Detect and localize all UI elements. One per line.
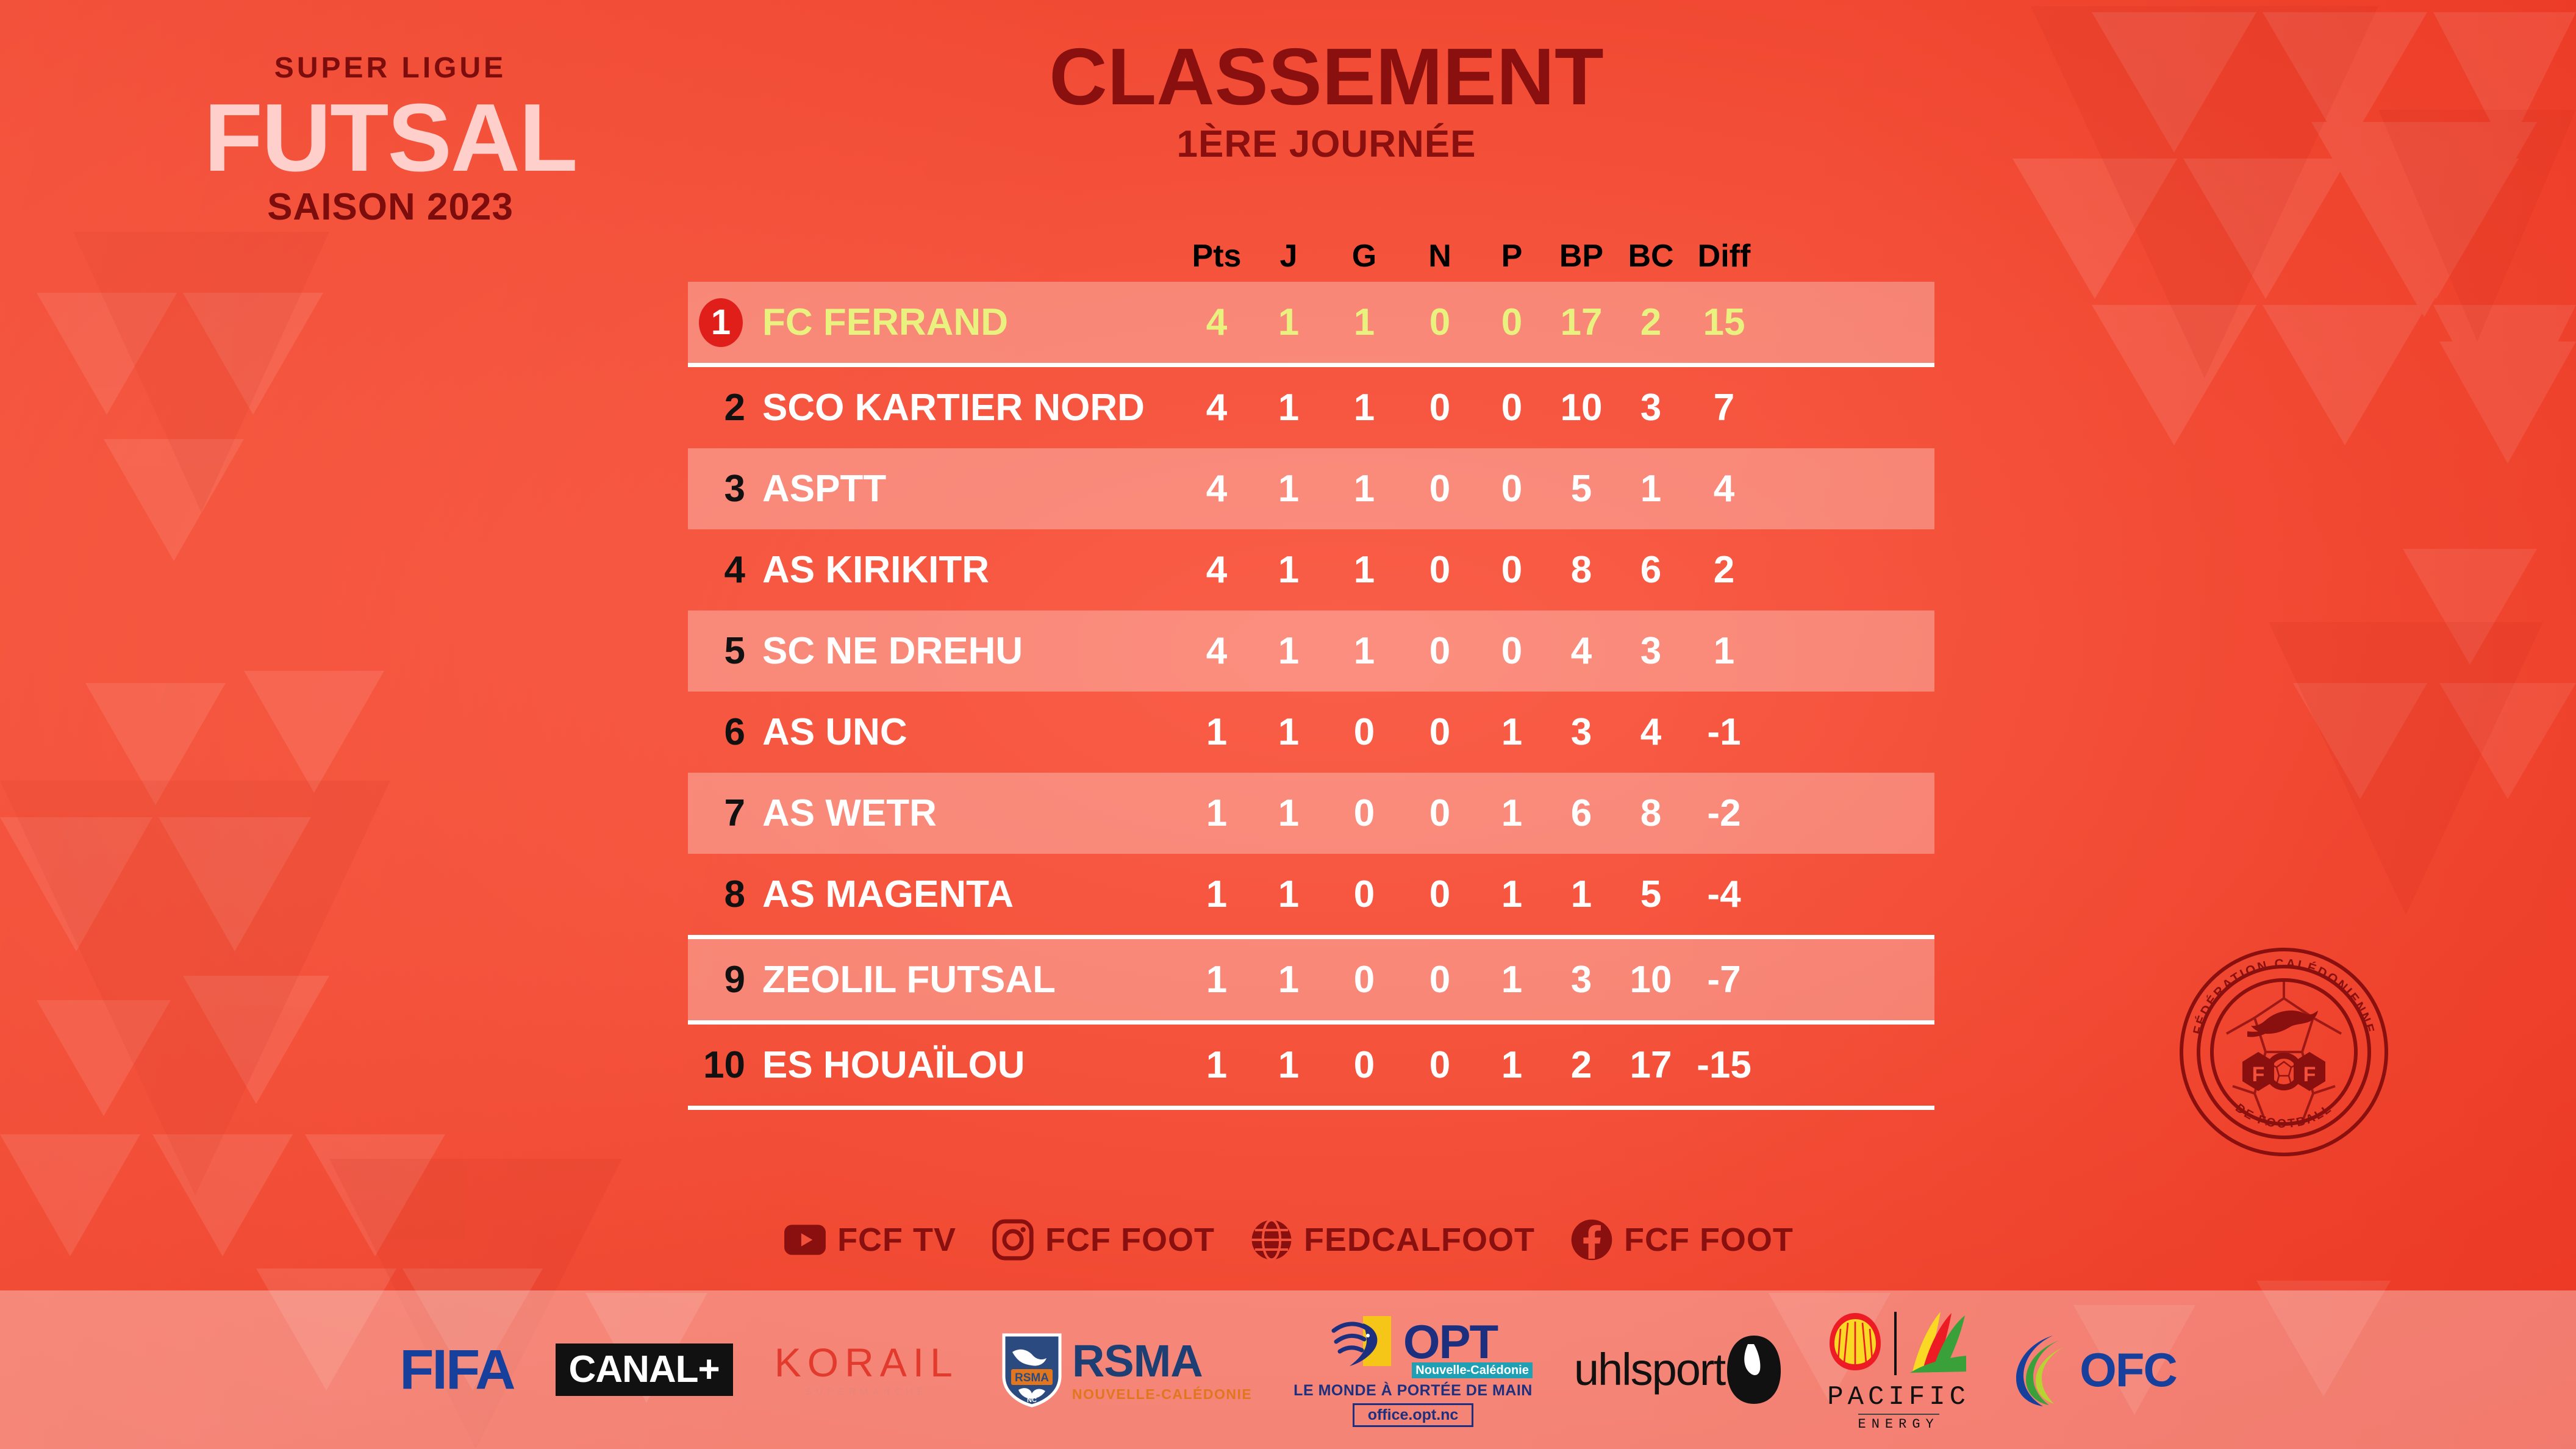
page-subtitle: 1ÈRE JOURNÉE xyxy=(720,126,1933,163)
row-rank: 8 xyxy=(688,876,754,914)
opt-website: office.opt.nc xyxy=(1353,1403,1474,1427)
sponsor-fifa: FIFA xyxy=(399,1342,513,1398)
row-rank: 2 xyxy=(688,389,754,427)
row-j: 1 xyxy=(1253,714,1325,751)
row-team-name: SC NE DREHU xyxy=(754,632,1181,670)
row-j: 1 xyxy=(1253,795,1325,832)
row-g: 0 xyxy=(1325,1046,1404,1084)
social-link-facebook[interactable]: FCF FOOT xyxy=(1569,1217,1794,1262)
svg-text:F: F xyxy=(2303,1063,2316,1086)
row-p: 1 xyxy=(1476,876,1548,914)
row-team-name: ES HOUAÏLOU xyxy=(754,1046,1181,1084)
uhlsport-mark-icon xyxy=(1725,1333,1783,1406)
col-header-diff: Diff xyxy=(1687,238,1761,274)
social-label-facebook: FCF FOOT xyxy=(1624,1223,1794,1256)
row-rank: 5 xyxy=(688,632,754,670)
row-j: 1 xyxy=(1253,470,1325,508)
row-bc: 3 xyxy=(1615,389,1687,427)
pacific-logo-text: PACIFIC xyxy=(1827,1384,1970,1411)
opt-logo-text: OPT xyxy=(1403,1318,1497,1365)
col-header-g: G xyxy=(1325,238,1404,274)
row-team-name: AS UNC xyxy=(754,714,1181,751)
svg-text:DE FOOTBALL: DE FOOTBALL xyxy=(2233,1101,2334,1131)
social-links-row: FCF TV FCF FOOT FEDCALFOOT FCF FOOT xyxy=(0,1217,2576,1262)
row-pts: 1 xyxy=(1181,795,1253,832)
page-title: CLASSEMENT xyxy=(720,37,1933,117)
social-label-website: FEDCALFOOT xyxy=(1304,1223,1535,1256)
table-header-row: Pts J G N P BP BC Diff xyxy=(688,231,1934,282)
row-bp: 4 xyxy=(1548,632,1615,670)
brand-block: SUPER LIGUE FUTSAL SAISON 2023 xyxy=(128,54,653,226)
row-diff: -15 xyxy=(1687,1046,1761,1084)
standings-table: Pts J G N P BP BC Diff 1 FC FERRAND 4 1 … xyxy=(688,231,1934,1110)
table-row[interactable]: 9 ZEOLIL FUTSAL 1 1 0 0 1 3 10 -7 xyxy=(688,939,1934,1020)
row-j: 1 xyxy=(1253,551,1325,589)
row-diff: -4 xyxy=(1687,876,1761,914)
social-label-youtube: FCF TV xyxy=(837,1223,956,1256)
row-pts: 4 xyxy=(1181,632,1253,670)
row-team-name: AS WETR xyxy=(754,795,1181,832)
row-n: 0 xyxy=(1404,1046,1476,1084)
table-row[interactable]: 1 FC FERRAND 4 1 1 0 0 17 2 15 xyxy=(688,282,1934,363)
row-p: 0 xyxy=(1476,470,1548,508)
row-pts: 1 xyxy=(1181,961,1253,999)
row-diff: 7 xyxy=(1687,389,1761,427)
table-row[interactable]: 5 SC NE DREHU 4 1 1 0 0 4 3 1 xyxy=(688,610,1934,692)
row-team-name: AS MAGENTA xyxy=(754,876,1181,914)
svg-text:NC: NC xyxy=(1027,1397,1037,1404)
row-bp: 2 xyxy=(1548,1046,1615,1084)
row-team-name: ZEOLIL FUTSAL xyxy=(754,961,1181,999)
shell-icon xyxy=(1825,1308,1886,1379)
table-row[interactable]: 6 AS UNC 1 1 0 0 1 3 4 -1 xyxy=(688,692,1934,773)
facebook-icon xyxy=(1569,1217,1614,1262)
row-p: 0 xyxy=(1476,304,1548,342)
row-bp: 8 xyxy=(1548,551,1615,589)
row-team-name: SCO KARTIER NORD xyxy=(754,389,1181,427)
sponsor-ofc: OFC xyxy=(2014,1332,2177,1408)
social-link-instagram[interactable]: FCF FOOT xyxy=(990,1217,1215,1262)
row-g: 0 xyxy=(1325,714,1404,751)
ofc-logo-text: OFC xyxy=(2080,1342,2177,1398)
globe-icon xyxy=(1249,1217,1294,1262)
pacific-subtitle: ENERGY xyxy=(1858,1414,1939,1431)
row-team-name: AS KIRIKITR xyxy=(754,551,1181,589)
row-bc: 4 xyxy=(1615,714,1687,751)
rsma-shield-icon: RSMA NC xyxy=(1000,1331,1064,1408)
table-row[interactable]: 3 ASPTT 4 1 1 0 0 5 1 4 xyxy=(688,448,1934,529)
row-n: 0 xyxy=(1404,714,1476,751)
row-team-name: FC FERRAND xyxy=(754,304,1181,342)
row-bp: 5 xyxy=(1548,470,1615,508)
row-j: 1 xyxy=(1253,1046,1325,1084)
super-ligue-label: SUPER LIGUE xyxy=(128,54,653,83)
futsal-wordmark: FUTSAL xyxy=(128,94,653,182)
rsma-subtitle: NOUVELLE-CALÉDONIE xyxy=(1072,1387,1252,1401)
rank-badge: 1 xyxy=(699,298,743,347)
sponsor-korail: KORAIL SUPERMARCHÉ xyxy=(775,1342,959,1397)
row-g: 1 xyxy=(1325,632,1404,670)
row-p: 1 xyxy=(1476,1046,1548,1084)
row-j: 1 xyxy=(1253,961,1325,999)
row-diff: -1 xyxy=(1687,714,1761,751)
row-n: 0 xyxy=(1404,632,1476,670)
row-g: 1 xyxy=(1325,551,1404,589)
row-g: 0 xyxy=(1325,961,1404,999)
row-p: 0 xyxy=(1476,389,1548,427)
row-j: 1 xyxy=(1253,632,1325,670)
sponsor-opt: OPT Nouvelle-Calédonie LE MONDE À PORTÉE… xyxy=(1293,1312,1533,1427)
col-header-pts: Pts xyxy=(1181,238,1253,274)
col-header-n: N xyxy=(1404,238,1476,274)
row-rank: 3 xyxy=(688,470,754,508)
row-j: 1 xyxy=(1253,304,1325,342)
col-header-bc: BC xyxy=(1615,238,1687,274)
rsma-shield-text: RSMA xyxy=(1015,1372,1049,1384)
row-rank: 9 xyxy=(688,961,754,999)
row-pts: 1 xyxy=(1181,876,1253,914)
youtube-icon xyxy=(782,1217,828,1262)
col-header-j: J xyxy=(1253,238,1325,274)
row-j: 1 xyxy=(1253,876,1325,914)
sponsor-canalplus: CANAL+ xyxy=(556,1343,733,1396)
row-p: 0 xyxy=(1476,551,1548,589)
row-bc: 3 xyxy=(1615,632,1687,670)
row-j: 1 xyxy=(1253,389,1325,427)
row-n: 0 xyxy=(1404,876,1476,914)
row-g: 1 xyxy=(1325,304,1404,342)
opt-bird-mark-icon xyxy=(1329,1312,1401,1371)
opt-slogan: LE MONDE À PORTÉE DE MAIN xyxy=(1293,1383,1533,1398)
row-diff: 1 xyxy=(1687,632,1761,670)
row-p: 1 xyxy=(1476,961,1548,999)
row-bp: 10 xyxy=(1548,389,1615,427)
row-g: 0 xyxy=(1325,795,1404,832)
row-p: 1 xyxy=(1476,795,1548,832)
social-label-instagram: FCF FOOT xyxy=(1045,1223,1215,1256)
row-diff: -7 xyxy=(1687,961,1761,999)
row-pts: 1 xyxy=(1181,1046,1253,1084)
row-n: 0 xyxy=(1404,304,1476,342)
table-row[interactable]: 8 AS MAGENTA 1 1 0 0 1 1 5 -4 xyxy=(688,854,1934,935)
ofc-swoosh-icon xyxy=(2014,1332,2086,1408)
row-n: 0 xyxy=(1404,551,1476,589)
row-n: 0 xyxy=(1404,470,1476,508)
row-g: 1 xyxy=(1325,389,1404,427)
table-row[interactable]: 4 AS KIRIKITR 4 1 1 0 0 8 6 2 xyxy=(688,529,1934,610)
table-row[interactable]: 10 ES HOUAÏLOU 1 1 0 0 1 2 17 -15 xyxy=(688,1025,1934,1106)
sponsor-uhlsport: uhlsport xyxy=(1574,1333,1783,1406)
row-p: 0 xyxy=(1476,632,1548,670)
row-bp: 6 xyxy=(1548,795,1615,832)
row-n: 0 xyxy=(1404,389,1476,427)
sponsor-rsma: RSMA NC RSMA NOUVELLE-CALÉDONIE xyxy=(1000,1331,1252,1408)
instagram-icon xyxy=(990,1217,1036,1262)
row-diff: 4 xyxy=(1687,470,1761,508)
row-g: 0 xyxy=(1325,876,1404,914)
table-row[interactable]: 7 AS WETR 1 1 0 0 1 6 8 -2 xyxy=(688,773,1934,854)
fifa-logo-text: FIFA xyxy=(399,1342,513,1398)
row-bp: 17 xyxy=(1548,304,1615,342)
table-row[interactable]: 2 SCO KARTIER NORD 4 1 1 0 0 10 3 7 xyxy=(688,367,1934,448)
rsma-logo-text: RSMA xyxy=(1072,1339,1252,1384)
korail-logo-text: KORAIL xyxy=(775,1342,959,1383)
row-bc: 2 xyxy=(1615,304,1687,342)
canalplus-logo-text: CANAL+ xyxy=(556,1343,733,1396)
col-header-p: P xyxy=(1476,238,1548,274)
row-rank: 1 xyxy=(688,298,754,347)
social-link-youtube[interactable]: FCF TV xyxy=(782,1217,956,1262)
row-diff: 15 xyxy=(1687,304,1761,342)
row-n: 0 xyxy=(1404,795,1476,832)
row-pts: 4 xyxy=(1181,470,1253,508)
row-bc: 10 xyxy=(1615,961,1687,999)
korail-tagline: SUPERMARCHÉ xyxy=(805,1387,928,1397)
row-p: 1 xyxy=(1476,714,1548,751)
row-diff: -2 xyxy=(1687,795,1761,832)
row-team-name: ASPTT xyxy=(754,470,1181,508)
pacific-leaf-icon xyxy=(1905,1308,1972,1379)
table-bottom-border xyxy=(688,1106,1934,1110)
row-pts: 1 xyxy=(1181,714,1253,751)
row-separator xyxy=(688,1020,1934,1025)
crest-bottom-text: DE FOOTBALL xyxy=(2233,1101,2334,1131)
season-label: SAISON 2023 xyxy=(128,188,653,226)
row-bc: 8 xyxy=(1615,795,1687,832)
row-bp: 3 xyxy=(1548,714,1615,751)
row-separator xyxy=(688,363,1934,367)
sponsor-bar: FIFA CANAL+ KORAIL SUPERMARCHÉ RSMA NC R… xyxy=(0,1290,2576,1449)
row-bc: 1 xyxy=(1615,470,1687,508)
row-pts: 4 xyxy=(1181,304,1253,342)
row-rank: 6 xyxy=(688,714,754,751)
row-pts: 4 xyxy=(1181,551,1253,589)
row-rank: 10 xyxy=(688,1046,754,1084)
row-bc: 6 xyxy=(1615,551,1687,589)
row-diff: 2 xyxy=(1687,551,1761,589)
sponsor-pacific-energy: PACIFIC ENERGY xyxy=(1825,1308,1972,1431)
page-title-block: CLASSEMENT 1ÈRE JOURNÉE xyxy=(720,37,1933,163)
social-link-website[interactable]: FEDCALFOOT xyxy=(1249,1217,1535,1262)
row-bc: 17 xyxy=(1615,1046,1687,1084)
svg-text:F: F xyxy=(2252,1063,2265,1086)
row-bp: 1 xyxy=(1548,876,1615,914)
fcf-crest-logo: F F FÉDÉRATION CALÉDONIENNE DE FOOTBALL xyxy=(2174,942,2394,1162)
opt-region-label: Nouvelle-Calédonie xyxy=(1412,1362,1533,1378)
uhlsport-logo-text: uhlsport xyxy=(1574,1347,1725,1392)
row-rank: 7 xyxy=(688,795,754,832)
row-bc: 5 xyxy=(1615,876,1687,914)
row-pts: 4 xyxy=(1181,389,1253,427)
row-n: 0 xyxy=(1404,961,1476,999)
col-header-bp: BP xyxy=(1548,238,1615,274)
row-rank: 4 xyxy=(688,551,754,589)
row-separator xyxy=(688,935,1934,939)
row-g: 1 xyxy=(1325,470,1404,508)
row-bp: 3 xyxy=(1548,961,1615,999)
